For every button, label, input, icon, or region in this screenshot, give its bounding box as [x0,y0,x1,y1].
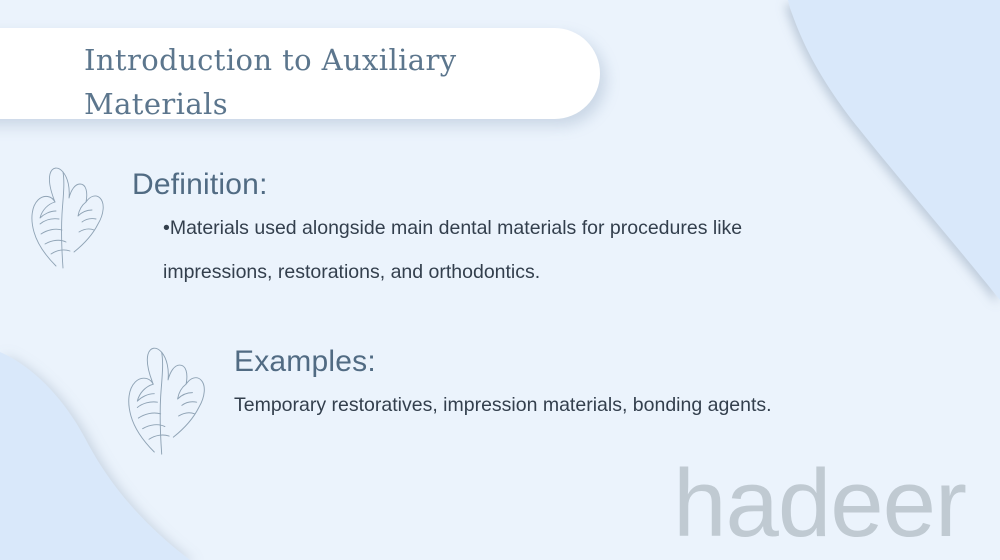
monstera-leaf-icon [18,162,118,270]
section-examples: Examples: Temporary restoratives, impres… [234,345,874,427]
section-body-examples: Temporary restoratives, impression mater… [234,383,874,427]
section-body-definition: •Materials used alongside main dental ma… [163,206,852,295]
section-definition: Definition: •Materials used alongside ma… [132,168,852,295]
page-title: Introduction to Auxiliary Materials [84,38,584,126]
monstera-leaf-icon [114,337,220,461]
watermark-text: hadeer [673,450,966,558]
section-heading-definition: Definition: [132,168,852,202]
section-heading-examples: Examples: [234,345,874,379]
presentation-slide: Introduction to Auxiliary Materials Defi… [0,0,1000,560]
